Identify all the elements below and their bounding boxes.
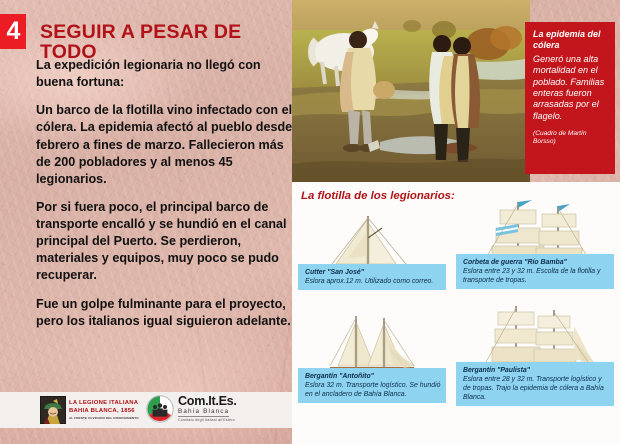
slide-number-badge: 4 (0, 14, 26, 49)
flotilla-title: La flotilla de los legionarios: (301, 190, 455, 202)
legione-line-1: LA LEGIONE ITALIANA (69, 400, 139, 408)
cholera-callout-credit: (Cuadro de Martín Borsso) (533, 130, 608, 146)
legione-line-3: AL FRENTE OLVIDADO DEL RISORGIMENTO (69, 416, 139, 420)
ship-caption-corbeta: Corbeta de guerra "Río Bamba" Eslora ent… (456, 254, 614, 289)
ship-name: Cutter "San José" (305, 268, 441, 277)
logo-bar: LA LEGIONE ITALIANA BAHIA BLANCA, 1856 A… (0, 392, 292, 428)
body-copy: La expedición legionaria no llegó con bu… (36, 57, 294, 330)
comites-text-block: Com.It.Es. Bahía Blanca Comitato degli I… (178, 395, 237, 423)
ship-name: Bergantín "Antoñito" (305, 372, 441, 381)
body-paragraph: La expedición legionaria no llegó con bu… (36, 57, 294, 91)
comites-emblem-icon (146, 395, 174, 423)
legione-line-2: BAHIA BLANCA, 1856 (69, 408, 139, 416)
ship-card-corbeta: Corbeta de guerra "Río Bamba" Eslora ent… (450, 196, 620, 308)
ship-card-antonito: Bergantín "Antoñito" Eslora 32 m. Transp… (292, 310, 452, 428)
cholera-callout-text: Generó una alta mortalidad en el poblado… (533, 54, 608, 123)
cholera-callout-title: La epidemia del cólera (533, 29, 608, 51)
logo-legione-italiana: LA LEGIONE ITALIANA BAHIA BLANCA, 1856 A… (40, 396, 139, 424)
flotilla-panel: La flotilla de los legionarios: Cutter "… (292, 182, 620, 444)
ship-name: Bergantín "Paulista" (463, 366, 609, 375)
logo-comites: Com.It.Es. Bahía Blanca Comitato degli I… (146, 395, 237, 423)
ship-caption-antonito: Bergantín "Antoñito" Eslora 32 m. Transp… (298, 368, 446, 403)
cholera-callout-box: La epidemia del cólera Generó una alta m… (525, 22, 615, 174)
legione-text-block: LA LEGIONE ITALIANA BAHIA BLANCA, 1856 A… (69, 400, 139, 419)
ship-caption-paulista: Bergantín "Paulista" Eslora entre 28 y 3… (456, 362, 614, 406)
body-paragraph: Un barco de la flotilla vino infectado c… (36, 102, 294, 188)
ship-card-cutter: Cutter "San José" Eslora aprox.12 m. Uti… (292, 208, 452, 308)
ship-card-paulista: Bergantín "Paulista" Eslora entre 28 y 3… (450, 302, 620, 428)
comites-line-3: Comitato degli Italiani all'Estero (178, 418, 237, 423)
painting-gauchos-cholera-victim (292, 0, 530, 182)
body-paragraph: Por si fuera poco, el principal barco de… (36, 199, 294, 285)
ship-caption-cutter: Cutter "San José" Eslora aprox.12 m. Uti… (298, 264, 446, 290)
ship-detail: Eslora aprox.12 m. Utilizado como correo… (305, 278, 433, 285)
legionnaire-crest-icon (40, 396, 66, 424)
ship-detail: Eslora entre 28 y 32 m. Transporte logís… (463, 376, 604, 401)
ship-name: Corbeta de guerra "Río Bamba" (463, 258, 609, 267)
comites-line-1: Com.It.Es. (178, 395, 237, 408)
slide-root: 4 SEGUIR A PESAR DE TODO La expedición l… (0, 0, 620, 444)
comites-line-2: Bahía Blanca (178, 408, 229, 418)
body-paragraph: Fue un golpe fulminante para el proyecto… (36, 296, 294, 330)
ship-detail: Eslora 32 m. Transporte logístico. Se hu… (305, 382, 440, 398)
ship-detail: Eslora entre 23 y 32 m. Escolta de la fl… (463, 268, 601, 284)
